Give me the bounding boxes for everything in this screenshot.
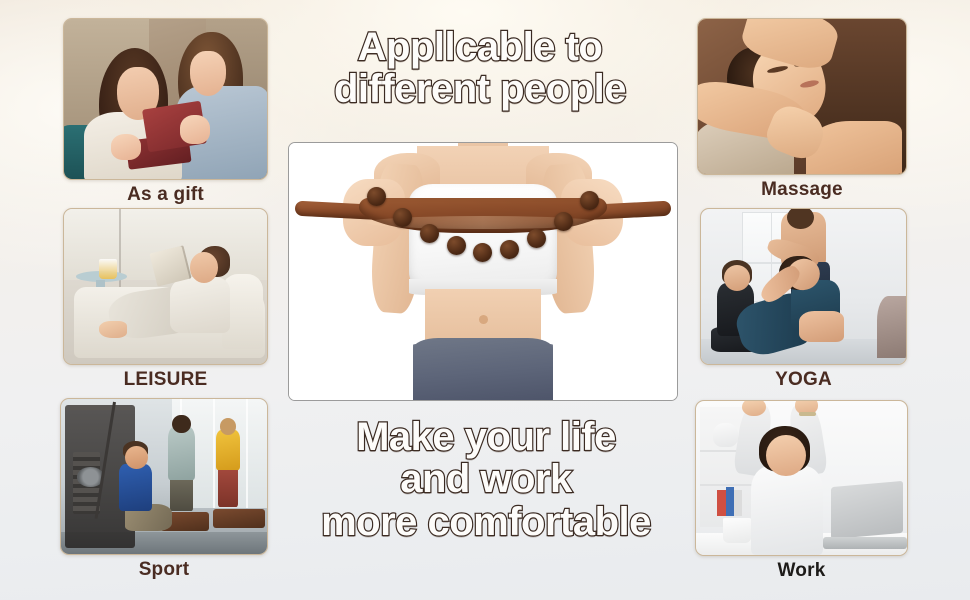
footline-line-1: Make your life <box>300 416 672 458</box>
card-leisure: LEISURE <box>63 208 268 391</box>
photo-as-a-gift <box>64 19 267 179</box>
infographic-poster: Appllcable to different people As a gift <box>0 0 970 600</box>
headline-line-1: Appllcable to <box>268 26 692 68</box>
headline-line-2: different people <box>268 68 692 110</box>
hero-product-frame <box>288 142 678 401</box>
caption-yoga: YOGA <box>700 370 907 391</box>
photo-frame-work <box>695 400 908 556</box>
photo-leisure <box>64 209 267 364</box>
wooden-massage-roller <box>289 187 677 244</box>
photo-sport <box>61 399 267 554</box>
caption-leisure: LEISURE <box>63 370 268 391</box>
card-yoga: YOGA <box>700 208 907 391</box>
hero-product-photo <box>289 143 677 400</box>
photo-massage <box>698 19 906 174</box>
card-massage: Massage <box>697 18 907 201</box>
headline-text: Appllcable to different people <box>268 26 692 111</box>
photo-frame-as-a-gift <box>63 18 268 180</box>
footline-text: Make your life and work more comfortable <box>300 416 672 543</box>
caption-massage: Massage <box>697 180 907 201</box>
footline-line-3: more comfortable <box>300 501 672 543</box>
footline-line-2: and work <box>300 458 672 500</box>
photo-frame-massage <box>697 18 907 175</box>
photo-frame-yoga <box>700 208 907 365</box>
photo-yoga <box>701 209 906 364</box>
caption-sport: Sport <box>60 560 268 581</box>
card-work: Work <box>695 400 908 582</box>
photo-frame-leisure <box>63 208 268 365</box>
caption-as-a-gift: As a gift <box>63 185 268 206</box>
card-as-a-gift: As a gift <box>63 18 268 206</box>
photo-work <box>696 401 907 555</box>
card-sport: Sport <box>60 398 268 581</box>
photo-frame-sport <box>60 398 268 555</box>
caption-work: Work <box>695 561 908 582</box>
